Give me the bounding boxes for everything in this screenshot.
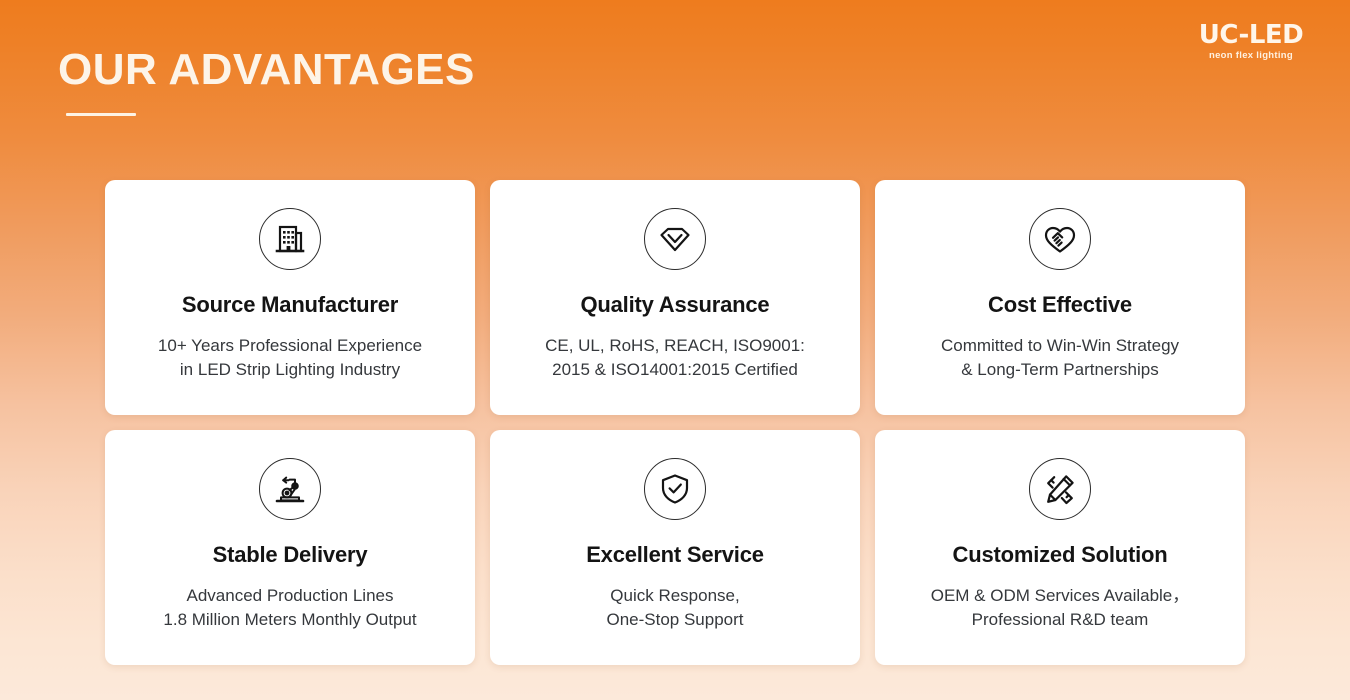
- title-underline-rule: [66, 113, 136, 116]
- card-description: Committed to Win-Win Strategy & Long-Ter…: [927, 334, 1193, 382]
- pencil-ruler-icon: [1029, 458, 1091, 520]
- advantage-card-quality-assurance[interactable]: Quality Assurance CE, UL, RoHS, REACH, I…: [490, 180, 860, 415]
- slide-root: OUR ADVANTAGES UC-LED neon flex lighting: [0, 0, 1350, 700]
- card-title: Source Manufacturer: [182, 292, 398, 318]
- card-title: Excellent Service: [586, 542, 764, 568]
- shield-check-icon: [644, 458, 706, 520]
- advantages-card-grid: Source Manufacturer 10+ Years Profession…: [105, 180, 1245, 665]
- diamond-icon: [644, 208, 706, 270]
- card-title: Stable Delivery: [213, 542, 368, 568]
- card-description: CE, UL, RoHS, REACH, ISO9001: 2015 & ISO…: [531, 334, 819, 382]
- card-title: Quality Assurance: [581, 292, 770, 318]
- building-icon: [259, 208, 321, 270]
- card-description: OEM & ODM Services Available， Profession…: [917, 584, 1204, 632]
- card-description: Quick Response, One-Stop Support: [592, 584, 757, 632]
- advantage-card-source-manufacturer[interactable]: Source Manufacturer 10+ Years Profession…: [105, 180, 475, 415]
- advantage-card-stable-delivery[interactable]: Stable Delivery Advanced Production Line…: [105, 430, 475, 665]
- card-title: Customized Solution: [953, 542, 1168, 568]
- logo-wordmark: UC-LED: [1186, 22, 1316, 48]
- advantage-card-customized-solution[interactable]: Customized Solution OEM & ODM Services A…: [875, 430, 1245, 665]
- page-title: OUR ADVANTAGES: [58, 44, 475, 96]
- card-title: Cost Effective: [988, 292, 1132, 318]
- card-description: 10+ Years Professional Experience in LED…: [144, 334, 436, 382]
- advantage-card-cost-effective[interactable]: Cost Effective Committed to Win-Win Stra…: [875, 180, 1245, 415]
- card-description: Advanced Production Lines 1.8 Million Me…: [149, 584, 430, 632]
- handshake-heart-icon: [1029, 208, 1091, 270]
- brand-logo: UC-LED neon flex lighting: [1186, 22, 1316, 61]
- logo-tagline: neon flex lighting: [1186, 50, 1316, 61]
- advantage-card-excellent-service[interactable]: Excellent Service Quick Response, One-St…: [490, 430, 860, 665]
- robot-arm-icon: [259, 458, 321, 520]
